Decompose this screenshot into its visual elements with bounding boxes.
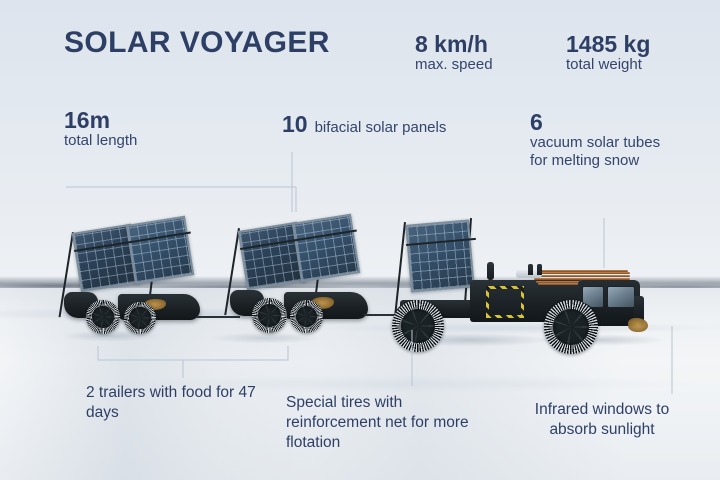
- stat-vacuum-tubes-value: 6: [530, 110, 670, 134]
- stat-max-speed-value: 8 km/h: [415, 32, 493, 56]
- page-title: SOLAR VOYAGER: [64, 26, 330, 60]
- stat-vacuum-tubes: 6 vacuum solar tubes for melting snow: [530, 110, 670, 171]
- stat-total-weight-label: total weight: [566, 56, 650, 74]
- stat-solar-panels: 10 bifacial solar panels: [282, 112, 446, 137]
- trailers-bracket: [98, 346, 288, 360]
- stat-total-length: 16m total length: [64, 108, 137, 150]
- stat-total-length-value: 16m: [64, 108, 137, 132]
- stat-total-length-label: total length: [64, 132, 137, 150]
- caption-special-tires: Special tires with reinforcement net for…: [286, 393, 476, 453]
- stat-vacuum-tubes-label: vacuum solar tubes for melting snow: [530, 134, 670, 171]
- infographic-canvas: SOLAR VOYAGER 16m total length 8 km/h ma…: [0, 0, 720, 480]
- stat-solar-panels-label: bifacial solar panels: [315, 119, 447, 137]
- caption-infrared-windows: Infrared windows to absorb sunlight: [512, 400, 692, 440]
- stat-total-weight: 1485 kg total weight: [566, 32, 650, 74]
- stat-max-speed-label: max. speed: [415, 56, 493, 74]
- stat-total-weight-value: 1485 kg: [566, 32, 650, 56]
- stat-max-speed: 8 km/h max. speed: [415, 32, 493, 74]
- stat-solar-panels-value: 10: [282, 112, 308, 136]
- caption-trailers-food: 2 trailers with food for 47 days: [86, 383, 276, 423]
